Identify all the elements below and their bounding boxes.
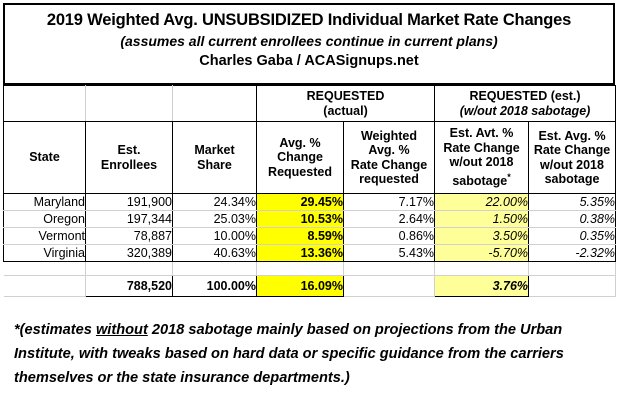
footnote-underlined-word: without [96, 322, 148, 338]
cell-weighted-avg: 7.17% [344, 194, 435, 211]
column-header-weighted-avg-line1: Weighted [344, 129, 434, 144]
group-header-blank-1 [4, 86, 86, 122]
table-spacer-row [4, 262, 616, 276]
cell-market-share: 10.00% [173, 228, 257, 245]
group-header-requested-actual: REQUESTED (actual) [257, 86, 435, 122]
cell-enrollees: 78,887 [86, 228, 173, 245]
spacer-cell [529, 262, 616, 276]
cell-enrollees: 191,900 [86, 194, 173, 211]
total-cell-est-wout-sabotage: 3.76% [435, 276, 529, 297]
cell-weighted-avg: 5.43% [344, 245, 435, 262]
title-block: 2019 Weighted Avg. UNSUBSIDIZED Individu… [3, 3, 615, 85]
cell-state: Oregon [4, 211, 86, 228]
cell-state: Vermont [4, 228, 86, 245]
group-header-requested-est-line1: REQUESTED (est.) [469, 89, 580, 103]
spacer-cell [4, 262, 86, 276]
column-header-market-share-line1: Market [173, 143, 256, 158]
author-credit: Charles Gaba / ACASignups.net [199, 51, 418, 72]
cell-est-avg-wout-sabotage: 0.35% [529, 228, 616, 245]
column-header-market-share-line2: Share [173, 158, 256, 173]
cell-est-avg-wout-sabotage: 0.38% [529, 211, 616, 228]
cell-est-wout-sabotage: 3.50% [435, 228, 529, 245]
spacer-cell [173, 262, 257, 276]
group-header-requested-est: REQUESTED (est.) (w/out 2018 sabotage) [435, 86, 616, 122]
column-header-avg-change-requested-line2: Change [257, 150, 343, 165]
column-header-est-wout-line2: Rate Change [435, 141, 528, 156]
spacer-cell [86, 262, 173, 276]
column-header-market-share: Market Share [173, 122, 257, 194]
column-header-est-avg-wout-line4: sabotage [529, 172, 615, 187]
table-row: Oregon 197,344 25.03% 10.53% 2.64% 1.50%… [4, 211, 616, 228]
rate-changes-table: REQUESTED (actual) REQUESTED (est.) (w/o… [3, 85, 616, 297]
column-header-est-wout-line4: sabotage* [435, 170, 528, 189]
total-cell-market-share: 100.00% [173, 276, 257, 297]
total-cell-enrollees: 788,520 [86, 276, 173, 297]
cell-enrollees: 320,389 [86, 245, 173, 262]
page-subtitle: (assumes all current enrollees continue … [120, 31, 497, 51]
footnote-marker-asterisk: * [507, 172, 511, 182]
cell-weighted-avg: 2.64% [344, 211, 435, 228]
spacer-cell [344, 262, 435, 276]
cell-weighted-avg: 0.86% [344, 228, 435, 245]
column-header-state: State [4, 122, 86, 194]
group-header-requested-actual-line2: (actual) [323, 104, 367, 118]
column-header-est-wout-line1: Est. Avt. % [435, 126, 528, 141]
cell-market-share: 40.63% [173, 245, 257, 262]
column-header-state-line1: State [4, 150, 85, 165]
spacer-cell [435, 262, 529, 276]
column-header-avg-change-requested-line3: Requested [257, 165, 343, 180]
cell-avg-change-requested: 8.59% [257, 228, 344, 245]
column-header-avg-change-requested: Avg. % Change Requested [257, 122, 344, 194]
cell-est-avg-wout-sabotage: 5.35% [529, 194, 616, 211]
cell-avg-change-requested: 10.53% [257, 211, 344, 228]
group-header-requested-est-line2: (w/out 2018 sabotage) [460, 104, 591, 118]
column-header-enrollees: Est. Enrollees [86, 122, 173, 194]
column-header-est-avg-wout-line1: Est. Avg. % [529, 129, 615, 144]
column-header-weighted-avg-line2: Avg. % [344, 143, 434, 158]
column-header-enrollees-line1: Est. [86, 143, 172, 158]
total-cell-weighted-avg [344, 276, 435, 297]
page-title: 2019 Weighted Avg. UNSUBSIDIZED Individu… [47, 10, 571, 31]
table-total-row: 788,520 100.00% 16.09% 3.76% [4, 276, 616, 297]
cell-avg-change-requested: 13.36% [257, 245, 344, 262]
column-header-enrollees-line2: Enrollees [86, 158, 172, 173]
footnote-part1: *(estimates [14, 322, 96, 338]
table-row: Maryland 191,900 24.34% 29.45% 7.17% 22.… [4, 194, 616, 211]
table-column-header-row: State Est. Enrollees Market Share Avg. %… [4, 122, 616, 194]
cell-state: Virginia [4, 245, 86, 262]
table-group-header-row: REQUESTED (actual) REQUESTED (est.) (w/o… [4, 86, 616, 122]
column-header-avg-change-requested-line1: Avg. % [257, 136, 343, 151]
column-header-weighted-avg-line4: requested [344, 172, 434, 187]
column-header-weighted-avg-line3: Rate Change [344, 158, 434, 173]
infographic-table-page: 2019 Weighted Avg. UNSUBSIDIZED Individu… [0, 0, 618, 400]
cell-market-share: 24.34% [173, 194, 257, 211]
group-header-blank-2 [86, 86, 173, 122]
group-header-requested-actual-line1: REQUESTED [307, 89, 385, 103]
column-header-weighted-avg: Weighted Avg. % Rate Change requested [344, 122, 435, 194]
column-header-est-avg-wout-sabotage: Est. Avg. % Rate Change w/out 2018 sabot… [529, 122, 616, 194]
table-row: Virginia 320,389 40.63% 13.36% 5.43% -5.… [4, 245, 616, 262]
table-row: Vermont 78,887 10.00% 8.59% 0.86% 3.50% … [4, 228, 616, 245]
total-cell-est-avg-wout-sabotage [529, 276, 616, 297]
cell-est-avg-wout-sabotage: -2.32% [529, 245, 616, 262]
group-header-blank-3 [173, 86, 257, 122]
total-cell-state [4, 276, 86, 297]
column-header-est-avg-wout-line2: Rate Change [529, 143, 615, 158]
cell-est-wout-sabotage: 1.50% [435, 211, 529, 228]
cell-market-share: 25.03% [173, 211, 257, 228]
total-cell-avg-change-requested: 16.09% [257, 276, 344, 297]
column-header-est-avg-wout-line3: w/out 2018 [529, 158, 615, 173]
cell-est-wout-sabotage: -5.70% [435, 245, 529, 262]
cell-avg-change-requested: 29.45% [257, 194, 344, 211]
column-header-est-wout-sabotage: Est. Avt. % Rate Change w/out 2018 sabot… [435, 122, 529, 194]
cell-enrollees: 197,344 [86, 211, 173, 228]
cell-est-wout-sabotage: 22.00% [435, 194, 529, 211]
column-header-est-wout-line4-text: sabotage [452, 174, 507, 188]
column-header-est-wout-line3: w/out 2018 [435, 155, 528, 170]
cell-state: Maryland [4, 194, 86, 211]
footnote-text: *(estimates without 2018 sabotage mainly… [14, 318, 610, 390]
spacer-cell [257, 262, 344, 276]
